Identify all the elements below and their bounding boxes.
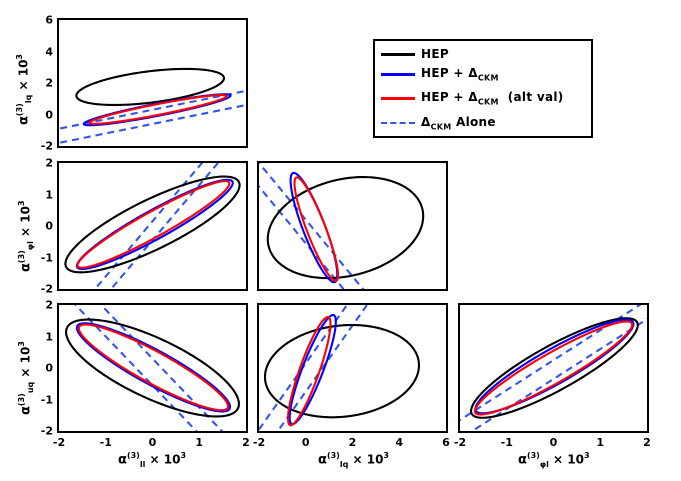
alpha-subscript-lq: lq (24, 95, 33, 103)
scatter-panel-r3c1 (57, 303, 248, 433)
scatter-panel-r3c3 (458, 303, 649, 433)
x-tick-label-c3-4: 2 (634, 437, 660, 448)
legend-swatch-hep-ckm-alt (381, 97, 415, 100)
y-tick-label-r1-3: 4 (23, 46, 53, 57)
alpha-symbol: α (518, 452, 527, 467)
legend-text-sub: CKM (431, 122, 452, 131)
legend-swatch-hep-ckm (381, 73, 415, 76)
legend-text-tail: Alone (456, 115, 496, 129)
legend-text-prefix: Δ (421, 115, 431, 129)
legend-row-ckm-alone: ΔCKM Alone (381, 115, 496, 131)
x-tick-label-c2-1: 0 (293, 437, 319, 448)
x-axis-unit-col3: × 10 (553, 452, 584, 466)
alpha-symbol: α (18, 406, 33, 415)
alpha-superscript: (3) (527, 451, 540, 460)
legend-label-hep: HEP (421, 47, 449, 61)
scatter-panel-r2c2 (257, 161, 448, 291)
legend-row-hep-ckm-alt: HEP + ΔCKM (alt val) (381, 90, 564, 106)
legend-text-prefix: HEP + Δ (421, 66, 478, 80)
x-tick-label-c2-0: -2 (246, 437, 272, 448)
y-tick-label-r3-2: 0 (23, 363, 53, 374)
x-axis-unit-exp-col2: 3 (383, 451, 389, 460)
y-tick-label-r1-4: 6 (23, 15, 53, 26)
x-tick-label-c3-1: -1 (494, 437, 520, 448)
alpha-subscript-uq: uq (26, 382, 35, 393)
alpha-symbol: α (18, 263, 33, 272)
alpha-symbol: α (318, 452, 327, 467)
x-tick-label-c3-2: 0 (541, 437, 567, 448)
legend-text-prefix: HEP + Δ (421, 90, 478, 104)
y-tick-label-r2-2: 0 (23, 221, 53, 232)
x-tick-label-c1-2: 0 (140, 437, 166, 448)
x-tick-label-c2-3: 4 (386, 437, 412, 448)
legend-swatch-hep (381, 53, 415, 56)
scatter-panel-r1c1 (57, 18, 248, 148)
legend-text-tail: (alt val) (508, 90, 564, 104)
y-tick-label-r3-4: 2 (23, 300, 53, 311)
alpha-subscript-phil: φl (540, 460, 549, 469)
legend-text-sub: CKM (478, 73, 499, 82)
alpha-superscript: (3) (127, 451, 140, 460)
x-tick-label-c3-0: -2 (447, 437, 473, 448)
legend-label-ckm-alone: ΔCKM Alone (421, 115, 496, 131)
y-tick-label-r2-3: 1 (23, 189, 53, 200)
x-axis-unit-col2: × 10 (352, 452, 383, 466)
alpha-subscript-phil: φl (26, 241, 35, 250)
x-tick-label-c1-1: -1 (93, 437, 119, 448)
y-tick-label-r2-4: 2 (23, 158, 53, 169)
x-tick-label-c2-2: 2 (340, 437, 366, 448)
y-tick-label-r2-1: -1 (23, 252, 53, 263)
x-axis-label-col3: α(3)φl × 103 (518, 452, 590, 469)
legend-label-hep-ckm-alt: HEP + ΔCKM (alt val) (421, 90, 564, 106)
x-tick-label-c1-0: -2 (46, 437, 72, 448)
y-axis-unit-exp-row2: 3 (17, 200, 26, 206)
alpha-symbol: α (118, 452, 127, 467)
x-tick-label-c3-3: 1 (587, 437, 613, 448)
correlation-ellipse-matrix-figure: α(3)lq × 103 α(3)φl × 103 α(3)uq × 103 α… (0, 0, 681, 481)
x-axis-unit-exp-col1: 3 (180, 451, 186, 460)
y-tick-label-r1-2: 2 (23, 78, 53, 89)
legend-row-hep: HEP (381, 46, 449, 62)
y-tick-label-r1-1: 0 (23, 109, 53, 120)
y-tick-label-r3-1: -1 (23, 394, 53, 405)
alpha-superscript: (3) (327, 451, 340, 460)
y-tick-label-r2-0: -2 (23, 284, 53, 295)
legend-swatch-ckm-alone (381, 122, 415, 124)
y-tick-label-r1-0: -2 (23, 141, 53, 152)
y-tick-label-r3-0: -2 (23, 426, 53, 437)
x-axis-label-col2: α(3)lq × 103 (318, 452, 389, 469)
x-axis-unit-col1: × 10 (150, 452, 181, 466)
scatter-panel-r3c2 (257, 303, 448, 433)
x-tick-label-c1-3: 1 (186, 437, 212, 448)
x-axis-label-col1: α(3)ll × 103 (118, 452, 186, 469)
legend-box: HEP HEP + ΔCKM HEP + ΔCKM (alt val) ΔCKM… (373, 39, 593, 138)
legend-label-hep-ckm: HEP + ΔCKM (421, 66, 499, 82)
y-tick-label-r3-3: 1 (23, 331, 53, 342)
legend-text-sub: CKM (478, 97, 499, 106)
x-axis-unit-exp-col3: 3 (584, 451, 590, 460)
scatter-panel-r2c1 (57, 161, 248, 291)
legend-row-hep-ckm: HEP + ΔCKM (381, 66, 499, 82)
